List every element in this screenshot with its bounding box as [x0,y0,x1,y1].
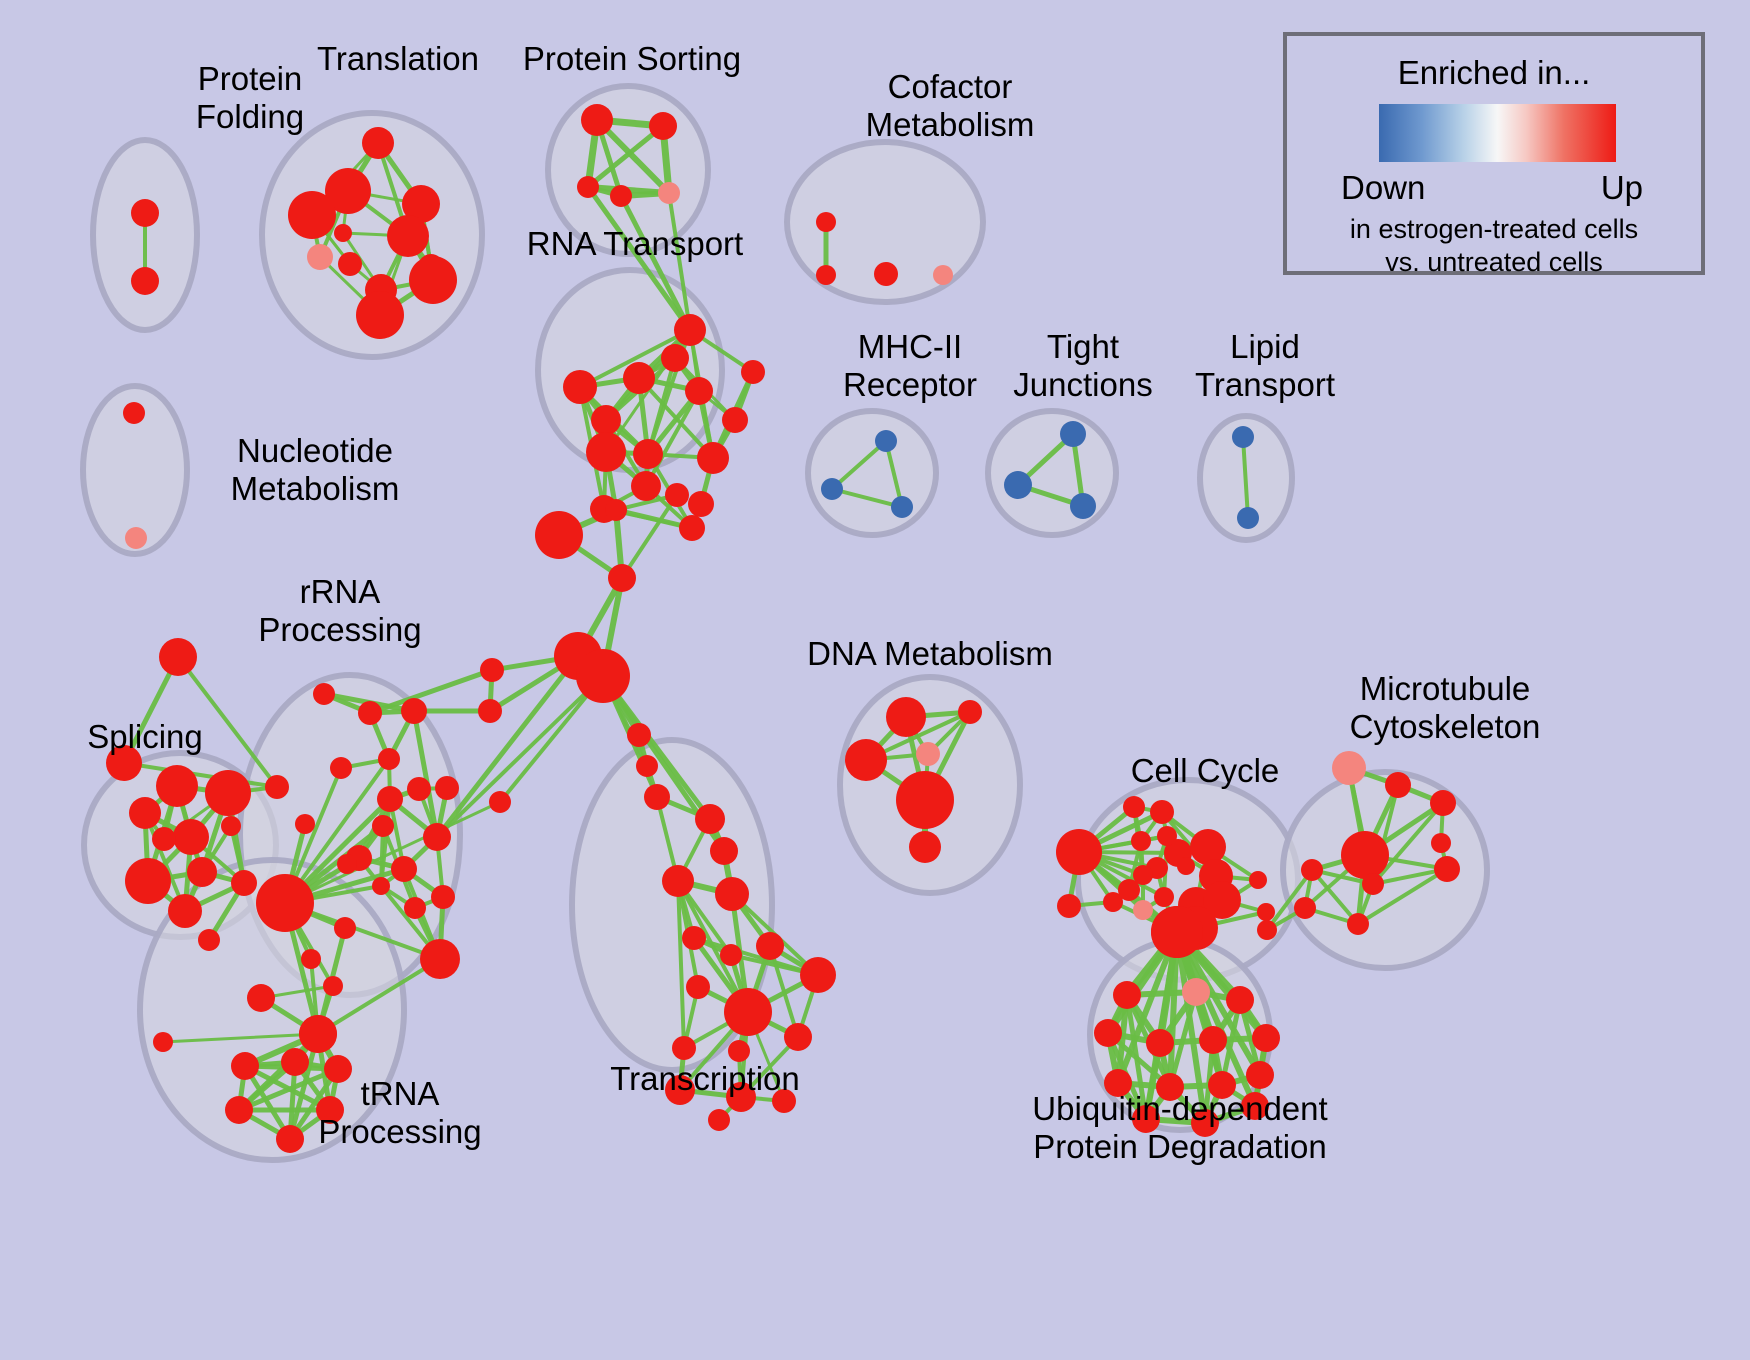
network-node [391,856,417,882]
network-node [1237,507,1259,529]
network-node [1301,859,1323,881]
network-node [695,804,725,834]
network-node [281,1048,309,1076]
network-node [1246,1061,1274,1089]
network-node [728,1040,750,1062]
network-node [324,1055,352,1083]
network-node [288,191,336,239]
figure-canvas: Protein FoldingTranslationProtein Sortin… [0,0,1750,1360]
network-node [1094,1019,1122,1047]
legend-box: Enriched in... Down Up in estrogen-treat… [1283,32,1705,275]
network-node [256,874,314,932]
network-node [198,929,220,951]
network-node [173,819,209,855]
network-node [1191,1109,1219,1137]
network-node [1154,887,1174,907]
network-node [187,857,217,887]
network-node [1341,831,1389,879]
legend-subtitle-line1: in estrogen-treated cells [1287,214,1701,245]
network-node [1226,986,1254,1014]
network-node [221,816,241,836]
legend-subtitle-line2: vs. untreated cells [1287,247,1701,278]
network-node [106,745,142,781]
network-node [159,638,197,676]
cluster-halo [808,411,936,535]
network-node [401,698,427,724]
network-node [1146,1029,1174,1057]
network-node [715,877,749,911]
network-node [576,649,630,703]
network-node [1131,831,1151,851]
network-node [631,471,661,501]
network-node [772,1089,796,1113]
network-node [334,224,352,242]
network-node [480,658,504,682]
network-node [623,362,655,394]
network-node [784,1023,812,1051]
color-scale-bar [1379,104,1616,162]
network-node [1157,826,1177,846]
network-node [1431,833,1451,853]
network-node [301,949,321,969]
network-node [358,701,382,725]
network-node [661,344,689,372]
network-node [1113,981,1141,1009]
network-node [535,511,583,559]
network-node [307,244,333,270]
network-node [1070,493,1096,519]
network-node [168,894,202,928]
network-node [563,370,597,404]
network-node [933,265,953,285]
network-node [131,199,159,227]
network-node [1133,900,1153,920]
network-node [591,405,621,435]
network-node [581,104,613,136]
network-node [586,432,626,472]
network-node [299,1015,337,1053]
network-node [337,854,357,874]
network-node [916,742,940,766]
network-node [1103,892,1123,912]
network-node [1232,426,1254,448]
network-node [605,499,627,521]
network-node [1182,978,1210,1006]
network-node [153,1032,173,1052]
network-node [874,262,898,286]
cluster-halo [548,86,708,254]
network-node [431,885,455,909]
network-node [1362,873,1384,895]
network-node [1190,829,1226,865]
network-node [685,377,713,405]
network-node [247,984,275,1012]
network-node [608,564,636,592]
network-node [816,265,836,285]
network-node [276,1125,304,1153]
network-node [665,483,689,507]
network-node [686,975,710,999]
network-node [156,765,198,807]
network-node [1151,906,1203,958]
network-node [1430,790,1456,816]
network-node [1249,871,1267,889]
network-node [726,1082,756,1112]
network-node [679,515,705,541]
network-node [1004,471,1032,499]
network-node [896,771,954,829]
network-node [800,957,836,993]
network-node [129,797,161,829]
network-node [265,775,289,799]
network-node [409,256,457,304]
network-node [688,491,714,517]
network-node [1132,1105,1160,1133]
network-node [1347,913,1369,935]
network-node [231,870,257,896]
network-node [1056,829,1102,875]
network-node [644,784,670,810]
network-node [633,439,663,469]
network-node [697,442,729,474]
network-node [225,1096,253,1124]
network-node [756,932,784,960]
network-node [891,496,913,518]
network-node [231,1052,259,1080]
network-node [295,814,315,834]
network-node [404,897,426,919]
network-node [313,683,335,705]
network-node [387,215,429,257]
network-node [1104,1069,1132,1097]
network-node [845,739,887,781]
network-node [741,360,765,384]
network-node [708,1109,730,1131]
edge [437,676,603,837]
network-node [407,777,431,801]
legend-title: Enriched in... [1287,54,1701,92]
network-node [1177,857,1195,875]
network-node [909,831,941,863]
network-node [1057,894,1081,918]
network-node [1208,1071,1236,1099]
network-node [886,697,926,737]
network-node [816,212,836,232]
network-node [1434,856,1460,882]
network-node [330,757,352,779]
network-node [377,786,403,812]
network-node [875,430,897,452]
network-node [1385,772,1411,798]
network-node [665,1075,695,1105]
network-node [125,858,171,904]
network-node [710,837,738,865]
network-node [627,723,651,747]
network-node [821,478,843,500]
network-node [674,314,706,346]
network-node [372,815,394,837]
network-node [662,865,694,897]
network-node [1332,751,1366,785]
network-node [316,1096,344,1124]
network-node [123,402,145,424]
network-node [356,291,404,339]
network-node [1060,421,1086,447]
network-node [131,267,159,295]
network-node [489,791,511,813]
network-node [1257,920,1277,940]
network-node [1294,897,1316,919]
network-node [423,823,451,851]
network-node [435,776,459,800]
network-node [1257,903,1275,921]
network-node [420,939,460,979]
network-node [478,699,502,723]
network-node [372,877,390,895]
network-node [152,827,176,851]
cluster-halo [988,411,1116,535]
network-node [658,182,680,204]
network-node [1156,1073,1184,1101]
network-node [1252,1024,1280,1052]
network-node [334,917,356,939]
legend-down-label: Down [1341,169,1425,207]
network-node [338,252,362,276]
network-node [1150,800,1174,824]
network-node [672,1036,696,1060]
network-node [1241,1092,1269,1120]
network-node [1123,796,1145,818]
network-node [724,988,772,1036]
network-node [636,755,658,777]
network-node [649,112,677,140]
network-node [125,527,147,549]
network-node [323,976,343,996]
network-node [958,700,982,724]
network-node [722,407,748,433]
legend-up-label: Up [1601,169,1643,207]
network-node [610,185,632,207]
network-node [378,748,400,770]
network-node [362,127,394,159]
network-node [205,770,251,816]
network-node [577,176,599,198]
network-node [720,944,742,966]
network-node [1199,1026,1227,1054]
network-node [682,926,706,950]
